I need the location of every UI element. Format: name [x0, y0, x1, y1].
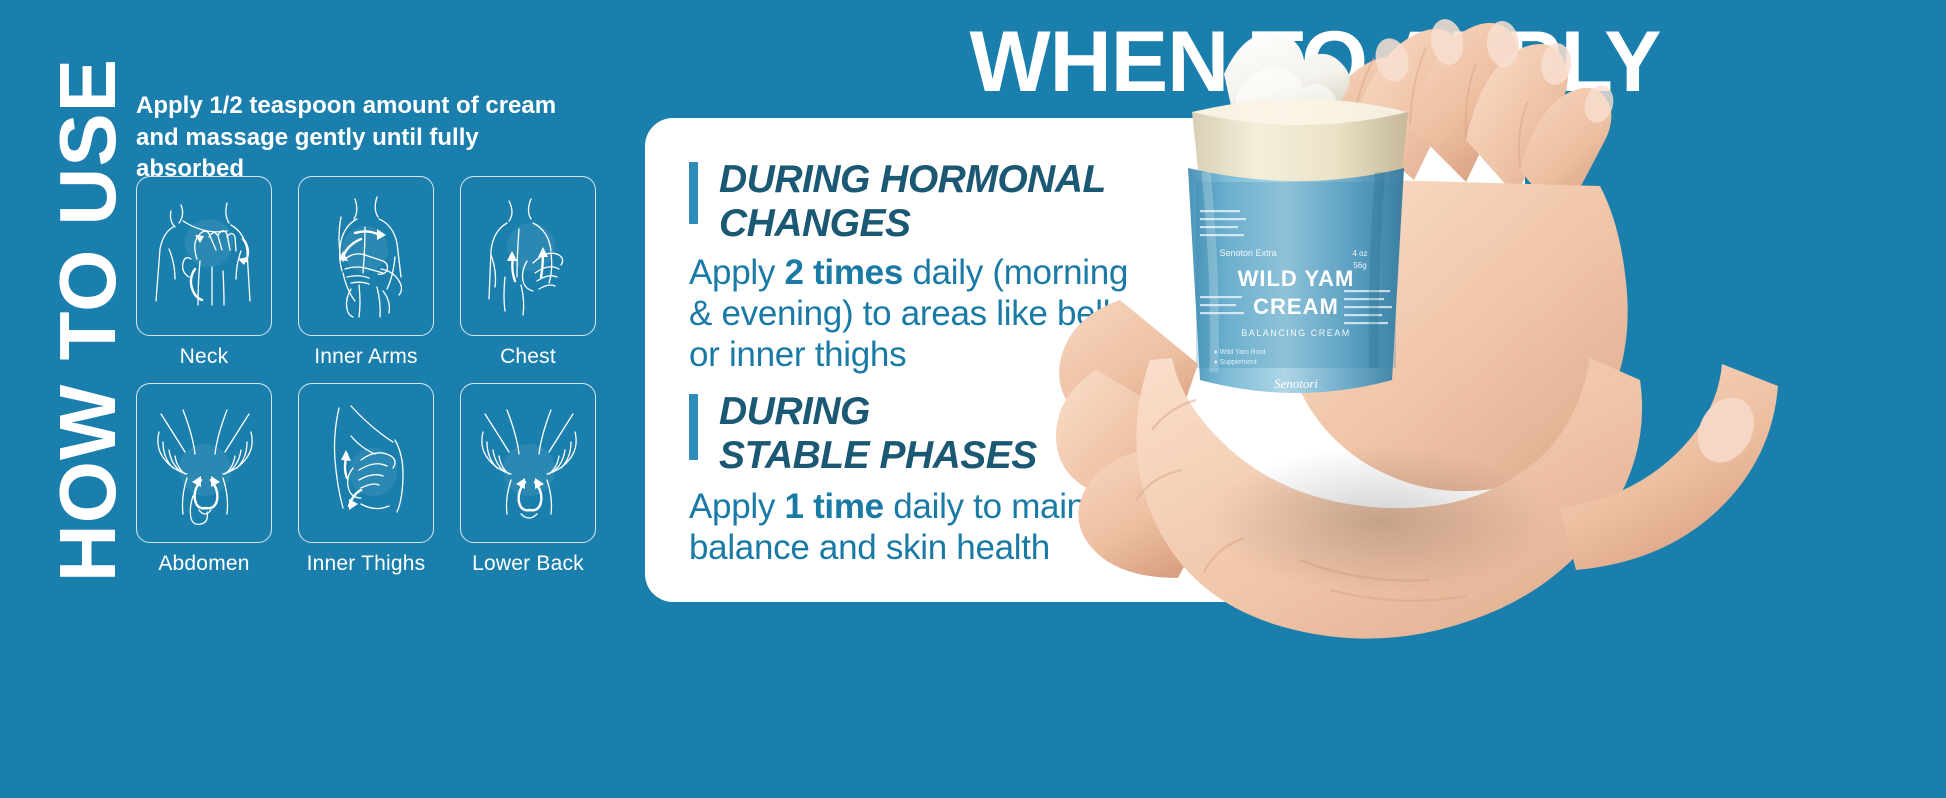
section-body: Apply 1 time daily to maintain balance a… [689, 487, 1159, 568]
neck-massage-icon [137, 177, 272, 336]
inner-thighs-massage-card[interactable] [298, 383, 434, 543]
grid-cell-lower-back: Lower Back [460, 383, 596, 576]
infographic-banner: HOW TO USE Apply 1/2 teaspoon amount of … [0, 0, 1946, 798]
chest-massage-card[interactable] [460, 176, 596, 336]
application-area-grid: Neck [136, 176, 596, 576]
lower-back-massage-card[interactable] [460, 383, 596, 543]
accent-bar-icon [689, 394, 698, 460]
grid-cell-chest: Chest [460, 176, 596, 369]
abdomen-massage-card[interactable] [136, 383, 272, 543]
body-emphasis: 2 times [784, 253, 903, 292]
body-pre: Apply [689, 253, 784, 292]
inner-arms-massage-card[interactable] [298, 176, 434, 336]
when-to-apply-card: DURING HORMONAL CHANGES Apply 2 times da… [645, 118, 1525, 602]
lower-back-massage-icon [461, 384, 596, 543]
section-hormonal-changes: DURING HORMONAL CHANGES Apply 2 times da… [689, 158, 1159, 375]
card-label: Neck [136, 345, 272, 369]
section-heading-text: DURING HORMONAL CHANGES [719, 158, 1106, 245]
heading-line-1: DURING [719, 390, 1037, 434]
how-to-use-intro: Apply 1/2 teaspoon amount of cream and m… [136, 90, 586, 185]
section-heading: DURING HORMONAL CHANGES [689, 158, 1159, 245]
heading-line-2: CHANGES [719, 202, 1106, 246]
grid-cell-neck: Neck [136, 176, 272, 369]
abdomen-massage-icon [137, 384, 272, 543]
card-label: Abdomen [136, 552, 272, 576]
section-body: Apply 2 times daily (morning & evening) … [689, 253, 1159, 375]
page-title: WHEN TO APPLY [720, 18, 1910, 107]
card-label: Lower Back [460, 552, 596, 576]
section-stable-phases: DURING STABLE PHASES Apply 1 time daily … [689, 390, 1159, 569]
accent-bar-icon [689, 162, 698, 224]
card-label: Inner Arms [298, 345, 434, 369]
body-pre: Apply [689, 487, 784, 526]
heading-line-1: DURING HORMONAL [719, 158, 1106, 202]
section-heading: DURING STABLE PHASES [689, 390, 1159, 477]
card-label: Inner Thighs [298, 552, 434, 576]
section-heading-text: DURING STABLE PHASES [719, 390, 1037, 477]
grid-cell-inner-arms: Inner Arms [298, 176, 434, 369]
how-to-use-vertical-title: HOW TO USE [40, 40, 136, 600]
chest-massage-icon [461, 177, 596, 336]
card-label: Chest [460, 345, 596, 369]
grid-cell-abdomen: Abdomen [136, 383, 272, 576]
neck-massage-card[interactable] [136, 176, 272, 336]
intro-line-1: Apply 1/2 teaspoon amount of cream [136, 90, 586, 122]
body-emphasis: 1 time [784, 487, 883, 526]
heading-line-2: STABLE PHASES [719, 434, 1037, 478]
grid-cell-inner-thighs: Inner Thighs [298, 383, 434, 576]
inner-thighs-massage-icon [299, 384, 434, 543]
inner-arms-massage-icon [299, 177, 434, 336]
